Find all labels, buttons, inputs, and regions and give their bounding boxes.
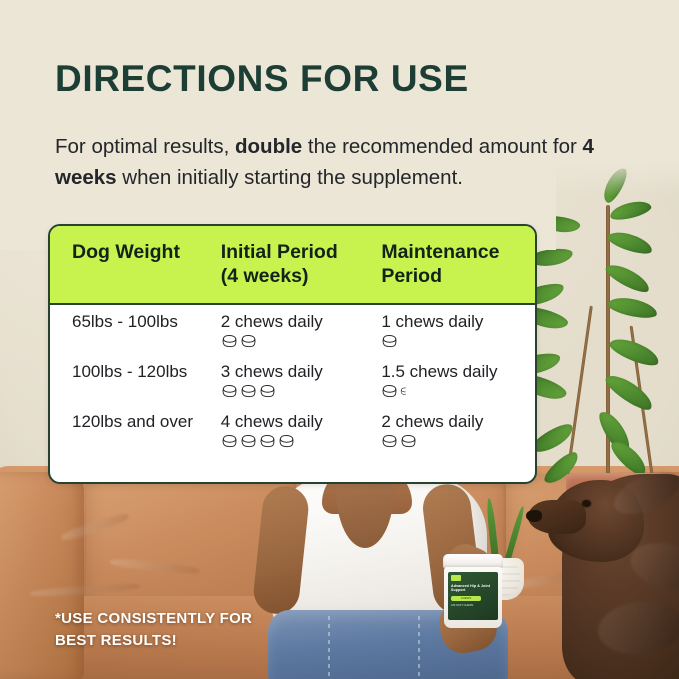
intro-paragraph: For optimal results, double the recommen…	[55, 131, 630, 193]
jeans-seam	[418, 616, 420, 678]
plant-leaf	[608, 198, 652, 223]
cell-maintenance-period: 1.5 chews daily	[381, 361, 535, 401]
table-row: 65lbs - 100lbs2 chews daily1 chews daily	[50, 305, 535, 355]
intro-bold-double: double	[235, 135, 302, 158]
maintenance-dose-text: 2 chews daily	[381, 411, 535, 433]
dosage-table: Dog Weight Initial Period (4 weeks) Main…	[48, 224, 537, 484]
maintenance-chew-icons	[381, 384, 535, 401]
cell-dog-weight: 65lbs - 100lbs	[50, 311, 221, 333]
plant-leaf	[606, 228, 655, 257]
initial-chew-icons	[221, 334, 382, 351]
cell-initial-period: 4 chews daily	[221, 411, 382, 451]
maintenance-chew-icons	[381, 434, 535, 451]
product-jar: Advanced Hip & Joint Support CHEWS 180 S…	[443, 554, 503, 628]
jar-pill-badge: CHEWS	[451, 596, 481, 601]
initial-dose-text: 2 chews daily	[221, 311, 382, 333]
page-title: DIRECTIONS FOR USE	[55, 57, 469, 101]
cell-dog-weight: 100lbs - 120lbs	[50, 361, 221, 383]
brand-mark-icon	[451, 575, 461, 581]
initial-dose-text: 3 chews daily	[221, 361, 382, 383]
table-body: 65lbs - 100lbs2 chews daily1 chews daily…	[50, 305, 535, 455]
table-row: 100lbs - 120lbs3 chews daily1.5 chews da…	[50, 355, 535, 405]
cell-maintenance-period: 2 chews daily	[381, 411, 535, 451]
maintenance-dose-text: 1.5 chews daily	[381, 361, 535, 383]
column-header-dog-weight: Dog Weight	[50, 240, 221, 303]
maintenance-chew-icons	[381, 334, 535, 351]
cell-initial-period: 2 chews daily	[221, 311, 382, 351]
jeans-seam	[328, 616, 330, 678]
table-row: 120lbs and over4 chews daily2 chews dail…	[50, 405, 535, 455]
column-header-maintenance-period: Maintenance Period	[381, 240, 535, 303]
initial-dose-text: 4 chews daily	[221, 411, 382, 433]
cell-dog-weight: 120lbs and over	[50, 411, 221, 433]
plant-leaf	[603, 260, 653, 297]
cell-initial-period: 3 chews daily	[221, 361, 382, 401]
jar-product-title: Advanced Hip & Joint Support	[451, 584, 495, 593]
plant-stem	[566, 306, 593, 475]
dog	[520, 452, 679, 679]
initial-chew-icons	[221, 434, 382, 451]
intro-part-2: the recommended amount for	[302, 135, 582, 158]
table-header-row: Dog Weight Initial Period (4 weeks) Main…	[50, 226, 535, 305]
plant-leaf	[606, 294, 658, 321]
jar-label: Advanced Hip & Joint Support CHEWS 180 S…	[448, 572, 498, 620]
plant-leaf	[602, 370, 657, 415]
intro-part-1: For optimal results,	[55, 135, 235, 158]
maintenance-dose-text: 1 chews daily	[381, 311, 535, 333]
jar-lid	[443, 554, 503, 568]
intro-part-3: when initially starting the supplement.	[117, 166, 463, 189]
footnote: *USE CONSISTENTLY FOR BEST RESULTS!	[55, 608, 252, 652]
dog-eye	[582, 500, 591, 507]
jar-count-text: 180 SOFT CHEWS	[451, 604, 495, 607]
column-header-initial-period: Initial Period (4 weeks)	[221, 240, 382, 303]
dog-nose	[526, 510, 542, 522]
cell-maintenance-period: 1 chews daily	[381, 311, 535, 351]
initial-chew-icons	[221, 384, 382, 401]
directions-for-use-graphic: Advanced Hip & Joint Support CHEWS 180 S…	[0, 0, 679, 679]
